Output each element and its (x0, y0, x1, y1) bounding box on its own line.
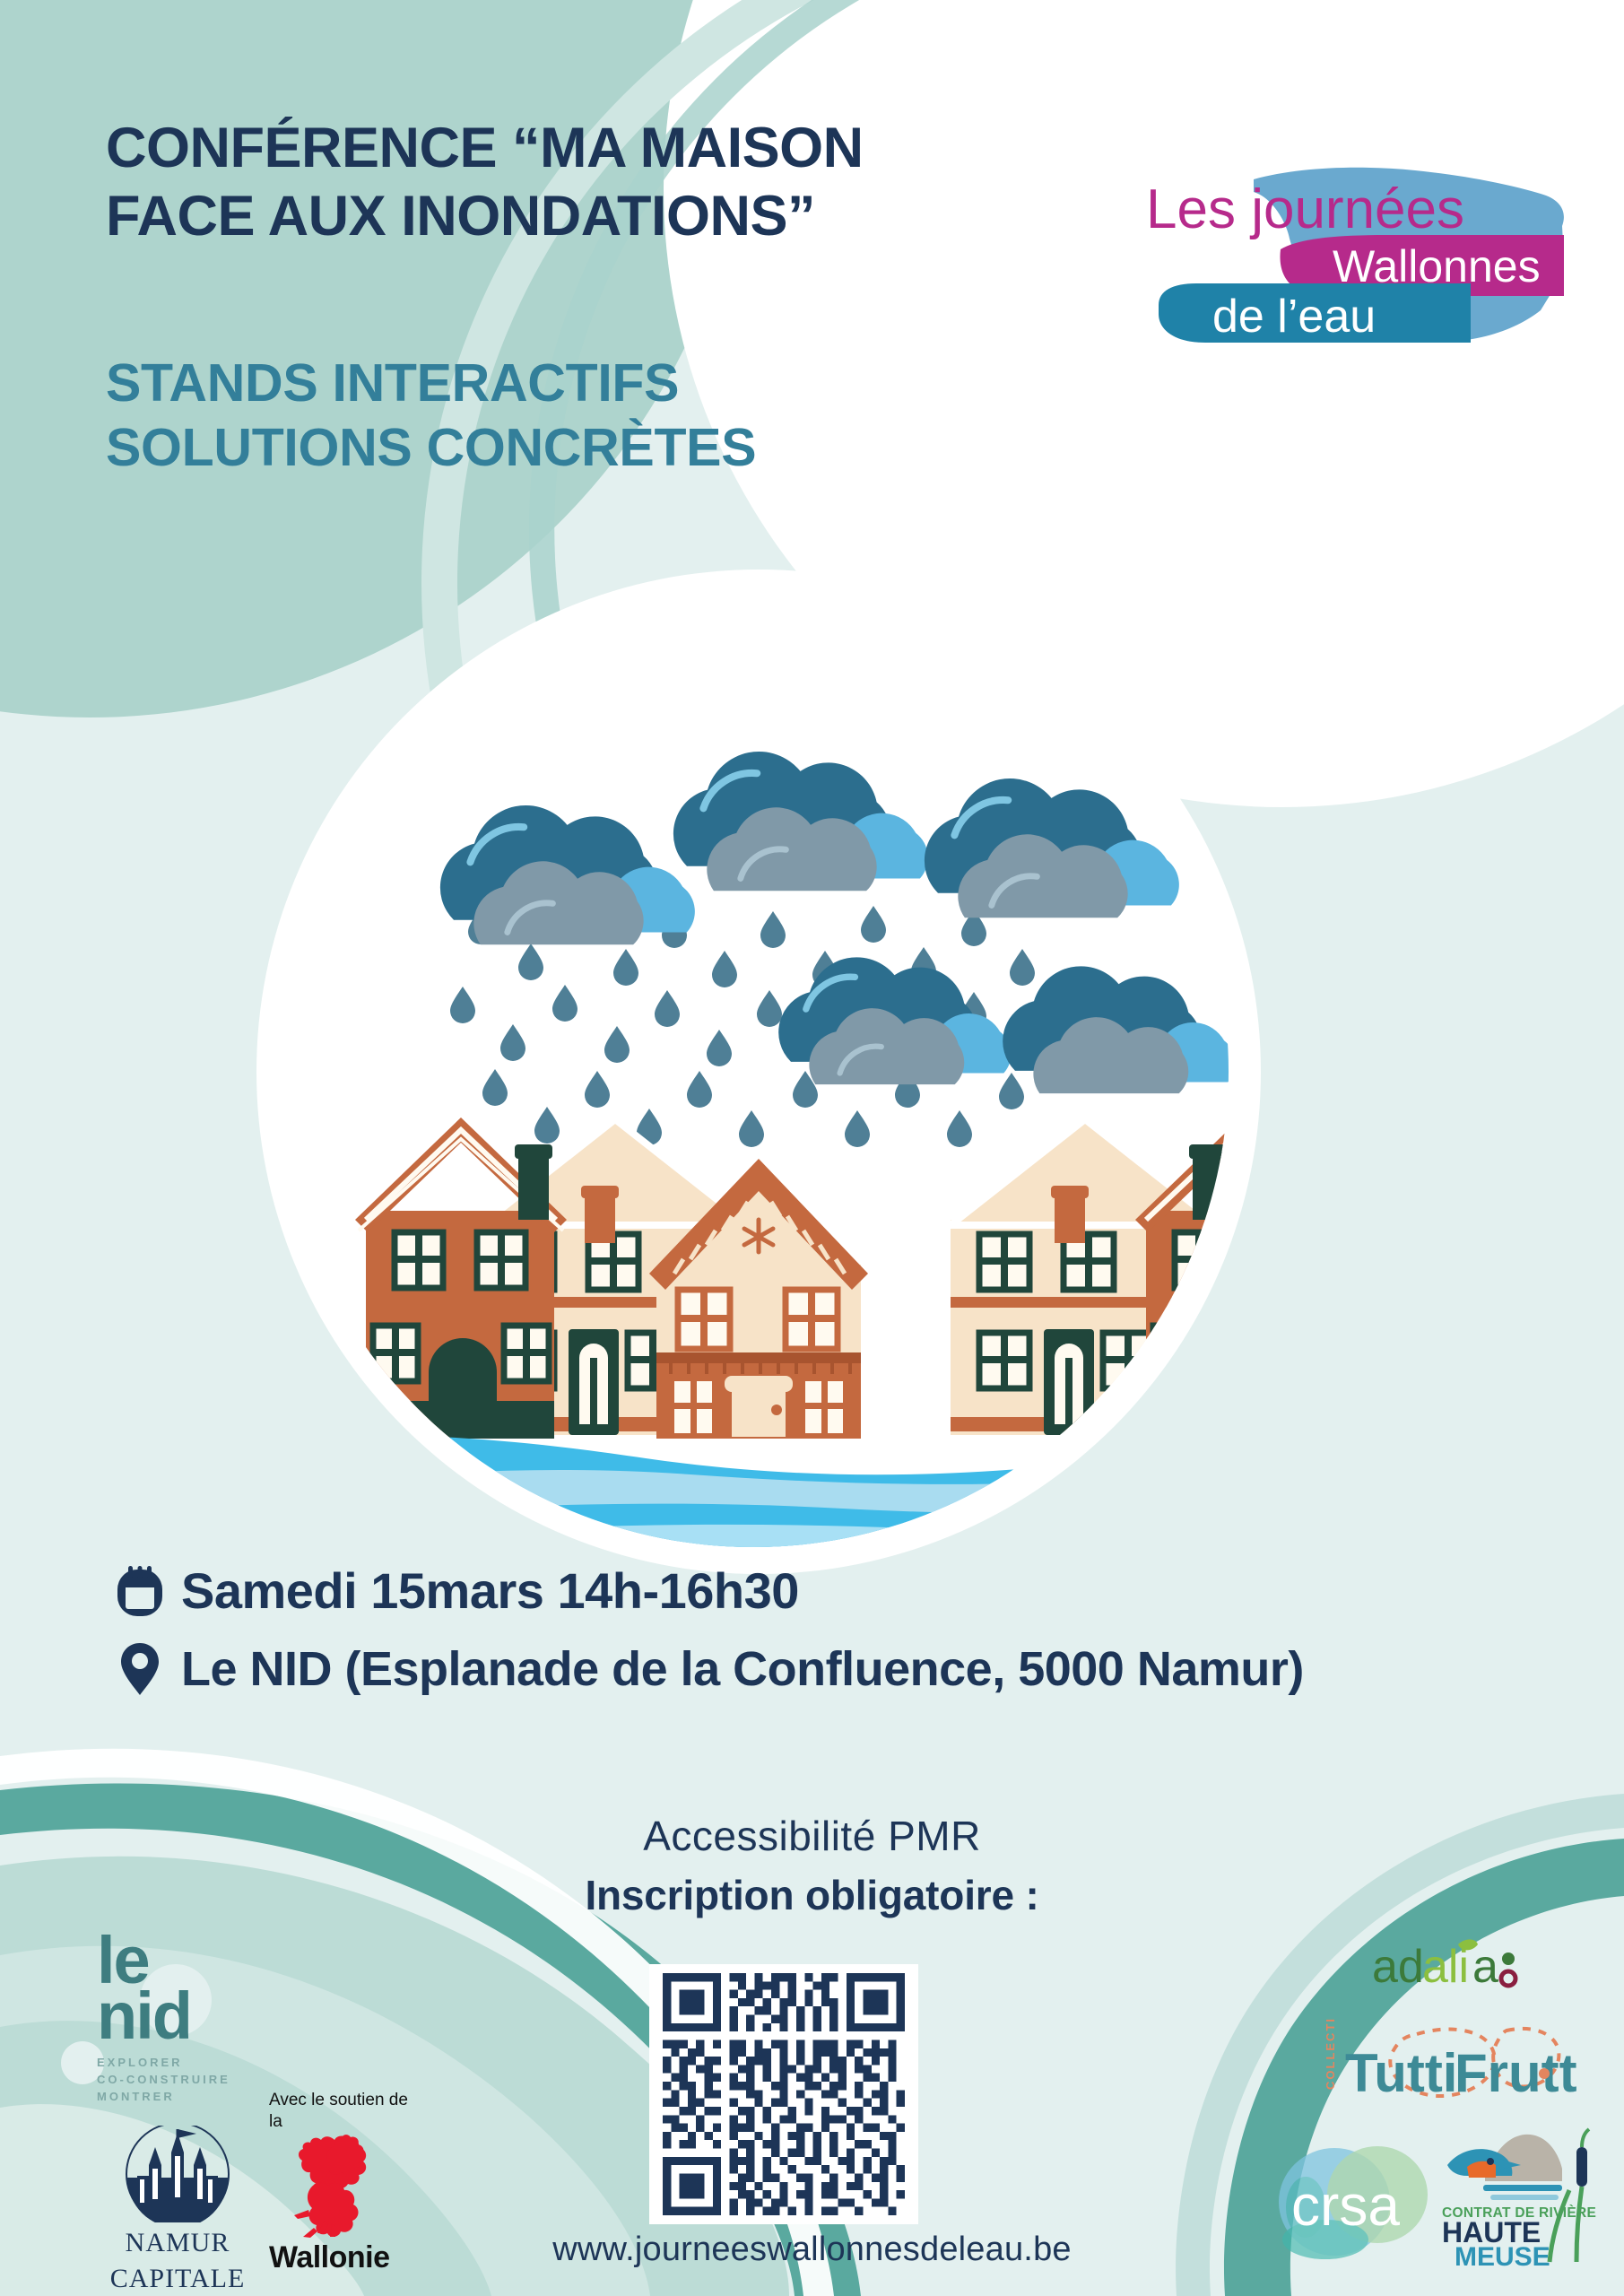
poster-canvas: CONFÉRENCE “MA MAISON FACE AUX INONDATIO… (0, 0, 1624, 2296)
map-pin-icon (115, 1639, 165, 1699)
calendar-icon (115, 1561, 165, 1620)
tutti-frutti-logo: COLLECTIF Tutti Frutti (1318, 2018, 1587, 2117)
tutti-collectif-label: COLLECTIF (1324, 2018, 1337, 2090)
le-nid-logo: le nid EXPLORER CO-CONSTRUIRE MONTRER (97, 1933, 258, 2106)
event-date-text: Samedi 15mars 14h-16h30 (181, 1561, 799, 1620)
event-details: Samedi 15mars 14h-16h30 Le NID (Esplanad… (115, 1561, 1550, 1718)
registration-block: Accessibilité PMR Inscription obligatoir… (0, 1812, 1624, 1919)
tutti-word-2: Frutti (1455, 2043, 1578, 2103)
journees-wallonnes-logo: Les journées Wallonnes de l’eau (1119, 152, 1585, 377)
adalia-text-a: a (1472, 1941, 1498, 1993)
flooded-houses-illustration (269, 592, 1238, 1561)
wallonie-support-line-2: la (269, 2111, 448, 2133)
haute-meuse-line-3: MEUSE (1455, 2242, 1550, 2269)
event-date-row: Samedi 15mars 14h-16h30 (115, 1561, 1550, 1620)
map-pin-icon-svg (120, 1641, 160, 1697)
adalia-dot-upper (1502, 1952, 1515, 1965)
page-subtitle: STANDS INTERACTIFS SOLUTIONS CONCRÈTES (106, 352, 1110, 481)
registration-qr-code[interactable] (649, 1964, 918, 2224)
adalia-dot-lower (1501, 1971, 1515, 1986)
reed-leaf (1550, 2190, 1569, 2262)
adalia-logo-svg: ad ali a (1372, 1937, 1560, 2000)
adalia-logo: ad ali a (1372, 1937, 1569, 2000)
namur-capitale-line-2: CAPITALE (97, 2264, 258, 2294)
event-location-text: Le NID (Esplanade de la Confluence, 5000… (181, 1641, 1304, 1697)
le-nid-tagline-3: MONTRER (97, 2089, 258, 2106)
crsa-logo-svg: crsa (1272, 2139, 1442, 2274)
wallonie-rooster-icon (282, 2135, 389, 2239)
headline-line-1: CONFÉRENCE “MA MAISON (106, 115, 1110, 183)
wallonie-logo: Avec le soutien de la Wallonie (269, 2090, 448, 2275)
reed-head (1576, 2147, 1587, 2187)
calendar-icon-svg (116, 1562, 164, 1618)
accessibility-note: Accessibilité PMR (0, 1812, 1624, 1860)
tutti-frutti-logo-svg: COLLECTIF Tutti Frutti (1318, 2018, 1578, 2117)
logo-text-wallonnes: Wallonnes (1333, 241, 1541, 291)
contrat-riviere-haute-meuse-logo: CONTRAT DE RIVIÈRE HAUTE MEUSE (1435, 2126, 1605, 2269)
adalia-text-ad: ad (1372, 1941, 1424, 1993)
namur-capitale-logo: NAMUR CAPITALE (97, 2126, 258, 2293)
reed-stem-top (1582, 2129, 1589, 2147)
event-location-row: Le NID (Esplanade de la Confluence, 5000… (115, 1639, 1550, 1699)
tutti-accent-dot (1539, 2068, 1550, 2079)
page-title: CONFÉRENCE “MA MAISON FACE AUX INONDATIO… (106, 115, 1110, 250)
journees-wallonnes-logo-svg: Les journées Wallonnes de l’eau (1119, 152, 1585, 377)
logo-text-de-leau: de l’eau (1212, 291, 1376, 343)
le-nid-tagline-2: CO-CONSTRUIRE (97, 2072, 258, 2089)
subhead-line-1: STANDS INTERACTIFS (106, 352, 1110, 416)
reed-stem (1576, 2187, 1582, 2262)
crsa-wordmark: crsa (1291, 2173, 1400, 2238)
flooded-houses-svg (269, 592, 1238, 1561)
le-nid-tagline-1: EXPLORER (97, 2055, 258, 2072)
wallonie-wordmark: Wallonie (269, 2240, 448, 2275)
namur-capitale-line-1: NAMUR (97, 2228, 258, 2258)
water-line-1 (1483, 2185, 1562, 2191)
le-nid-word-bottom: nid (97, 1988, 258, 2044)
wallonie-support-line-1: Avec le soutien de (269, 2090, 448, 2111)
le-nid-tagline: EXPLORER CO-CONSTRUIRE MONTRER (97, 2055, 258, 2106)
crsa-logo: crsa (1272, 2139, 1451, 2283)
water-line-2 (1490, 2195, 1559, 2200)
registration-label: Inscription obligatoire : (0, 1871, 1624, 1919)
subhead-line-2: SOLUTIONS CONCRÈTES (106, 416, 1110, 481)
tutti-word-1: Tutti (1345, 2043, 1457, 2103)
haute-meuse-logo-svg: CONTRAT DE RIVIÈRE HAUTE MEUSE (1435, 2126, 1601, 2269)
namur-citadel-icon (119, 2126, 236, 2222)
qr-code-svg[interactable] (658, 1973, 909, 2215)
logo-text-les-journees: Les journées (1146, 178, 1464, 240)
headline-line-2: FACE AUX INONDATIONS” (106, 183, 1110, 251)
